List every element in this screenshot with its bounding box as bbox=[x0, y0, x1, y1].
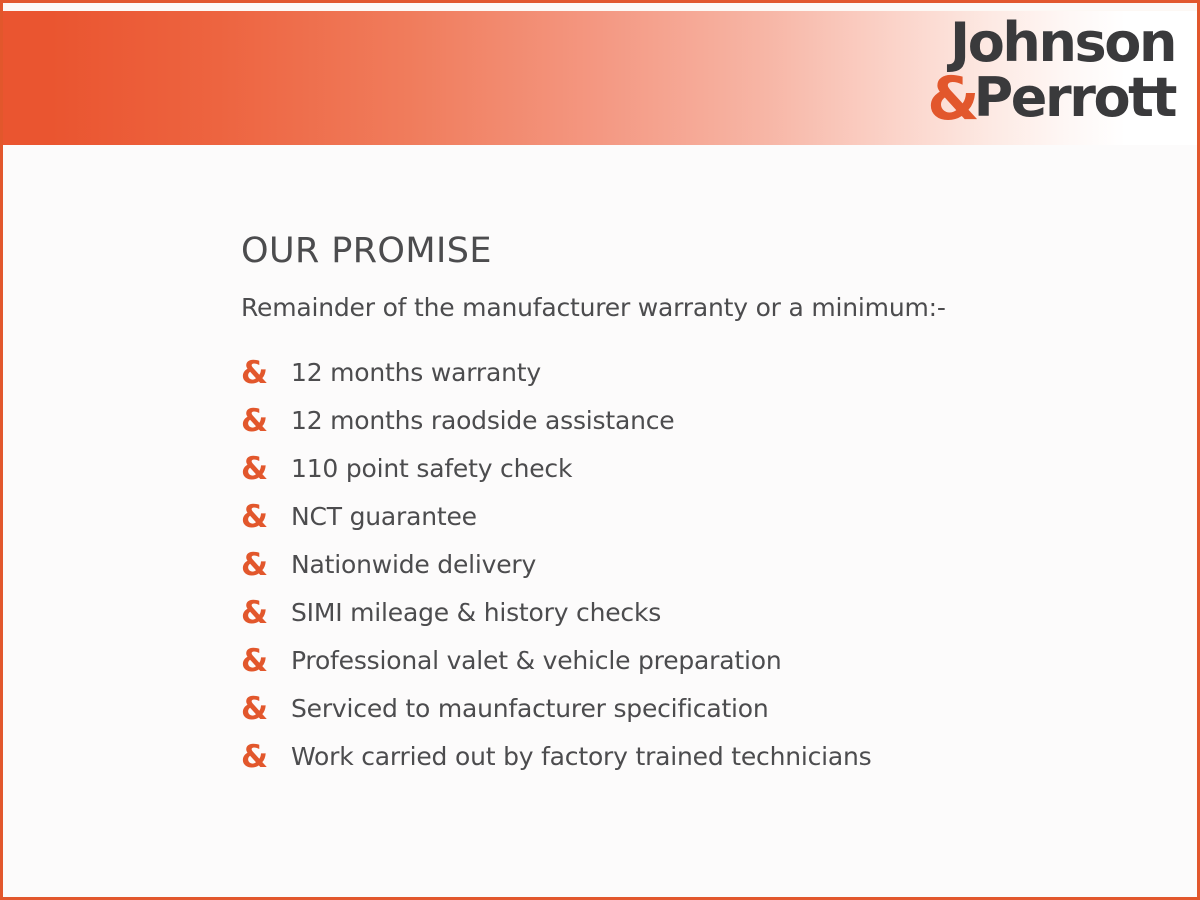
list-item-label: SIMI mileage & history checks bbox=[291, 598, 661, 627]
ampersand-icon: & bbox=[927, 64, 973, 134]
promise-content: OUR PROMISE Remainder of the manufacture… bbox=[241, 231, 1161, 781]
ampersand-bullet-icon: & bbox=[241, 397, 275, 445]
logo-text-johnson: Johnson bbox=[889, 17, 1175, 69]
header-top-strip bbox=[3, 3, 1197, 11]
ampersand-bullet-icon: & bbox=[241, 493, 275, 541]
list-item-label: Professional valet & vehicle preparation bbox=[291, 646, 781, 675]
list-item-label: NCT guarantee bbox=[291, 502, 477, 531]
promise-subtitle: Remainder of the manufacturer warranty o… bbox=[241, 293, 1161, 323]
list-item: & Work carried out by factory trained te… bbox=[241, 733, 1161, 781]
ampersand-bullet-icon: & bbox=[241, 637, 275, 685]
list-item-label: Work carried out by factory trained tech… bbox=[291, 742, 872, 771]
johnson-perrott-logo: Johnson &Perrott bbox=[889, 17, 1175, 135]
list-item: & 110 point safety check bbox=[241, 445, 1161, 493]
list-item-label: Serviced to maunfacturer specification bbox=[291, 694, 769, 723]
list-item-label: 110 point safety check bbox=[291, 454, 572, 483]
logo-text-perrott: Perrott bbox=[974, 66, 1175, 129]
list-item: & 12 months raodside assistance bbox=[241, 397, 1161, 445]
ampersand-bullet-icon: & bbox=[241, 685, 275, 733]
promise-list: & 12 months warranty & 12 months raodsid… bbox=[241, 349, 1161, 781]
page-title: OUR PROMISE bbox=[241, 231, 1161, 271]
ampersand-bullet-icon: & bbox=[241, 589, 275, 637]
list-item-label: Nationwide delivery bbox=[291, 550, 536, 579]
ampersand-bullet-icon: & bbox=[241, 445, 275, 493]
promise-poster: Johnson &Perrott OUR PROMISE Remainder o… bbox=[0, 0, 1200, 900]
list-item: & Professional valet & vehicle preparati… bbox=[241, 637, 1161, 685]
ampersand-bullet-icon: & bbox=[241, 733, 275, 781]
list-item: & SIMI mileage & history checks bbox=[241, 589, 1161, 637]
ampersand-bullet-icon: & bbox=[241, 349, 275, 397]
ampersand-bullet-icon: & bbox=[241, 541, 275, 589]
list-item-label: 12 months warranty bbox=[291, 358, 541, 387]
list-item-label: 12 months raodside assistance bbox=[291, 406, 674, 435]
list-item: & Serviced to maunfacturer specification bbox=[241, 685, 1161, 733]
list-item: & NCT guarantee bbox=[241, 493, 1161, 541]
logo-second-line: &Perrott bbox=[889, 69, 1175, 127]
list-item: & 12 months warranty bbox=[241, 349, 1161, 397]
brand-header: Johnson &Perrott bbox=[3, 3, 1197, 145]
list-item: & Nationwide delivery bbox=[241, 541, 1161, 589]
